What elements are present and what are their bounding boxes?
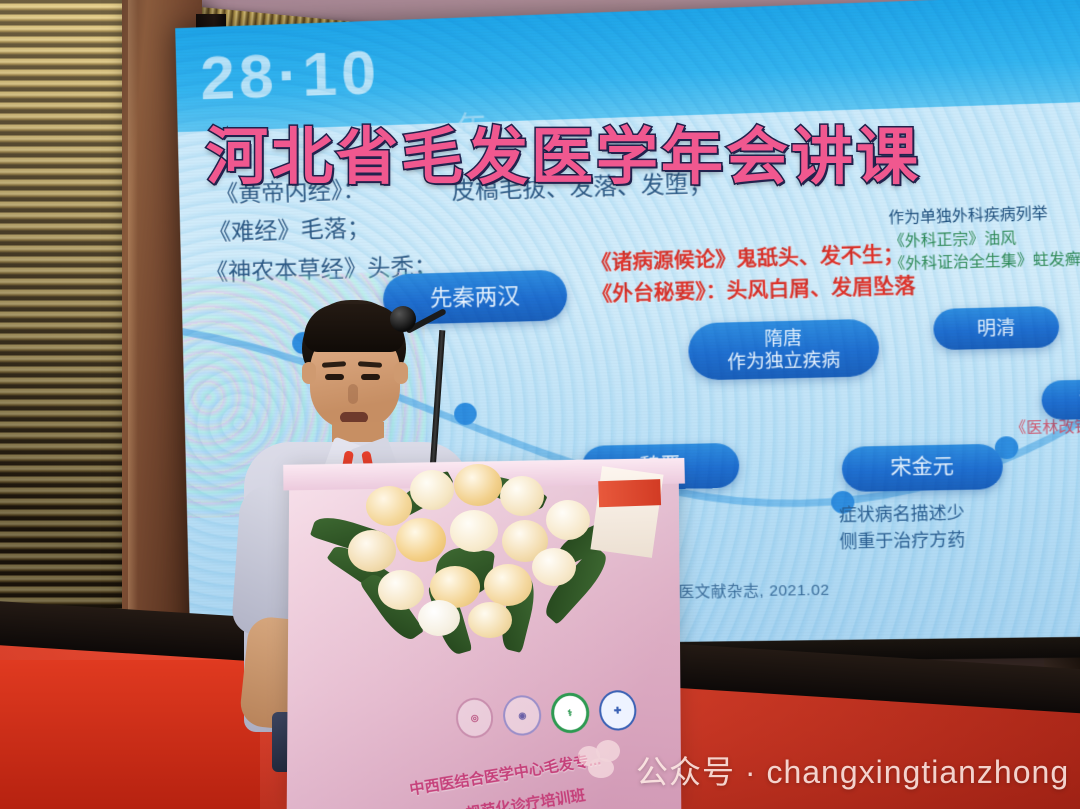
flower-bloom	[454, 464, 502, 506]
timeline-node-label: 隋唐	[764, 326, 802, 350]
microphone-icon	[390, 306, 416, 332]
watermark-logo-icon	[576, 736, 638, 782]
seal-icon-purple: ◉	[503, 694, 543, 736]
gift-box	[590, 466, 663, 558]
songjinyuan-line-1: 症状病名描述少	[839, 500, 965, 528]
flower-bloom	[468, 602, 512, 638]
speaker-ear-left	[302, 362, 316, 384]
songjinyuan-line-2: 侧重于治疗方药	[839, 526, 965, 554]
flower-bloom	[484, 564, 532, 606]
speaker-ear-right	[394, 362, 408, 384]
flower-bloom	[500, 476, 544, 516]
speaker-eye-right	[361, 374, 380, 380]
timeline-node-label: 宋金元	[890, 454, 954, 481]
flower-bloom	[366, 486, 412, 526]
speaker-eye-left	[325, 374, 344, 380]
flower-bloom	[546, 500, 590, 540]
slide-header-line-3: 《难经》毛落；	[208, 208, 371, 247]
mingqing-line-3: 《外科证治全生集》蛀发癣	[889, 248, 1080, 276]
seal-icon-red: ◎	[455, 697, 495, 739]
flower-bloom	[348, 530, 396, 572]
flower-bloom	[532, 548, 576, 586]
slide-red-annotation: 《诸病源候论》鬼舐头、发不生； 《外台秘要》：头风白屑、发眉坠落	[591, 240, 916, 312]
speaker-nose	[348, 384, 358, 404]
slide-mingqing-annotation: 作为单独外科疾病列举 《外科正宗》油风 《外科证治全生集》蛀发癣	[888, 202, 1080, 277]
timeline-node-qing: 清代	[1041, 378, 1080, 420]
timeline-node-suitang: 隋唐 作为独立疾病	[688, 319, 880, 381]
flower-bloom	[410, 470, 454, 510]
slide-band-number: 28·10	[200, 37, 382, 115]
speaker-hair-front	[304, 304, 404, 352]
flower-bloom	[450, 510, 498, 552]
timeline-node-songjinyuan: 宋金元	[841, 444, 1003, 492]
slide-songjinyuan-annotation: 症状病名描述少 侧重于治疗方药	[839, 500, 966, 555]
watermark-text: 公众号 · changxingtianzhong	[636, 747, 1069, 793]
page-title: 河北省毛发医学年会讲课	[206, 106, 921, 196]
flower-bloom	[378, 570, 424, 610]
gift-box-ribbon	[598, 479, 661, 507]
photo-scene: 28·10 年 《黄帝内经》： 皮槁毛拔、发落、发堕； 《难经》毛落； 《神农本…	[0, 0, 1080, 809]
seal-icon-green: ⚕	[550, 692, 590, 734]
red-carpet-left	[0, 660, 260, 809]
flower-bloom	[418, 600, 460, 636]
timeline-node-label: 明清	[977, 316, 1016, 340]
timeline-node-mingqing: 明清	[933, 306, 1060, 350]
seal-icon-blue: ✚	[598, 689, 638, 731]
flower-bloom	[396, 518, 446, 562]
timeline-node-sublabel: 作为独立疾病	[727, 348, 841, 374]
